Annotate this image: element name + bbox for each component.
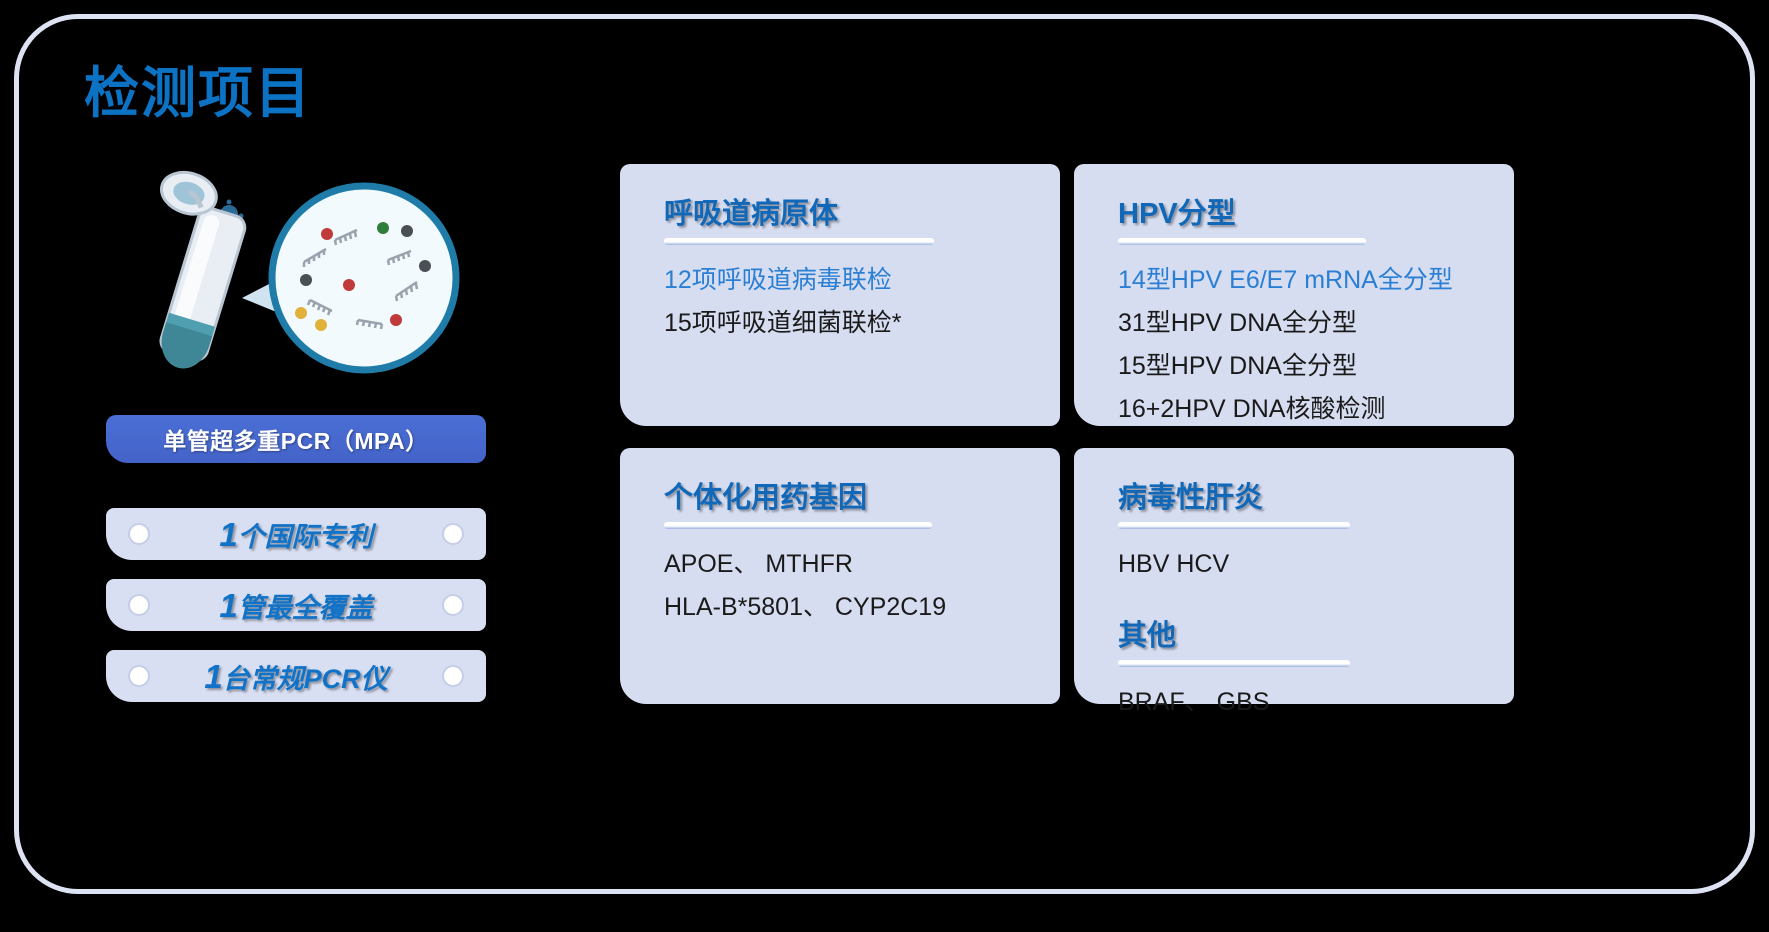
pill-dot-left-icon <box>128 594 150 616</box>
pill-dot-right-icon <box>442 665 464 687</box>
card-line: APOE、 MTHFR <box>664 543 1026 586</box>
feature-pill-label-2: 1台常规PCR仪 <box>150 657 442 696</box>
feature-pill-coverage: 1管最全覆盖 <box>106 579 486 631</box>
card-title-hpv: HPV分型 <box>1118 190 1236 234</box>
card-line: 12项呼吸道病毒联检 <box>664 259 1026 302</box>
section-spacer <box>1118 586 1480 612</box>
card-line: HLA-B*5801、 CYP2C19 <box>664 586 1026 629</box>
card-line: 16+2HPV DNA核酸检测 <box>1118 388 1480 431</box>
card-title-hepatitis: 病毒性肝炎 <box>1118 474 1263 518</box>
poster-canvas: 检测项目 <box>0 0 1769 932</box>
card-subtitle-other: 其他 <box>1118 612 1176 656</box>
title-underline <box>1118 238 1366 245</box>
card-hpv: HPV分型 14型HPV E6/E7 mRNA全分型 31型HPV DNA全分型… <box>1074 164 1514 426</box>
card-respiratory: 呼吸道病原体 12项呼吸道病毒联检 15项呼吸道细菌联检* <box>620 164 1060 426</box>
title-underline <box>1118 522 1350 529</box>
pill-dot-left-icon <box>128 665 150 687</box>
pill-dot-right-icon <box>442 594 464 616</box>
card-hepatitis: 病毒性肝炎 HBV HCV 其他 BRAF、 GBS <box>1074 448 1514 704</box>
card-line: 31型HPV DNA全分型 <box>1118 302 1480 345</box>
pill-dot-right-icon <box>442 523 464 545</box>
title-underline <box>664 238 934 245</box>
pcr-tube-with-dna-bubble-icon <box>96 170 516 410</box>
card-line: BRAF、 GBS <box>1118 681 1480 724</box>
feature-pill-patent: 1个国际专利 <box>106 508 486 560</box>
feature-pill-label-0: 1个国际专利 <box>150 515 442 554</box>
card-title-pharmacogenomics: 个体化用药基因 <box>664 474 867 518</box>
subtitle-underline <box>1118 660 1350 667</box>
feature-pill-label-1: 1管最全覆盖 <box>150 586 442 625</box>
feature-pill-instrument: 1台常规PCR仪 <box>106 650 486 702</box>
card-line: 15项呼吸道细菌联检* <box>664 302 1026 345</box>
mpa-banner: 单管超多重PCR（MPA） <box>106 415 486 463</box>
card-pharmacogenomics: 个体化用药基因 APOE、 MTHFR HLA-B*5801、 CYP2C19 <box>620 448 1060 704</box>
page-title: 检测项目 <box>84 48 312 128</box>
card-line: HBV HCV <box>1118 543 1480 586</box>
title-underline <box>664 522 932 529</box>
card-line: 15型HPV DNA全分型 <box>1118 345 1480 388</box>
card-line: 14型HPV E6/E7 mRNA全分型 <box>1118 259 1480 302</box>
card-title-respiratory: 呼吸道病原体 <box>664 190 838 234</box>
pill-dot-left-icon <box>128 523 150 545</box>
